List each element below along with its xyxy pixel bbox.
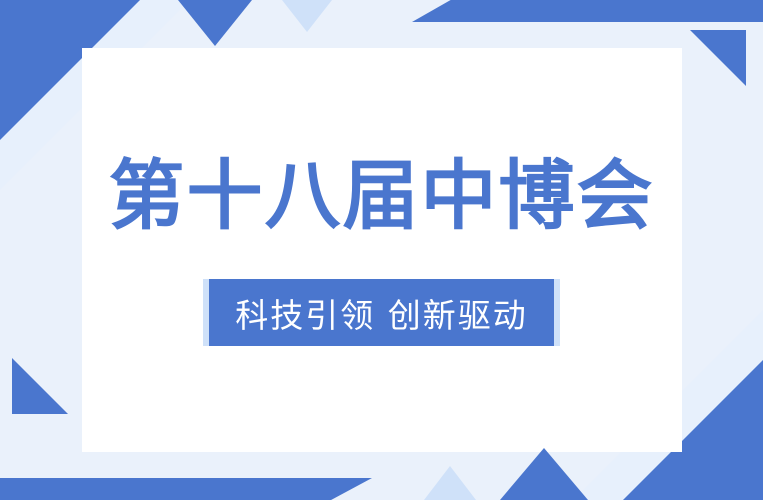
banner-content: 第十八届中博会 科技引领 创新驱动 [0, 0, 763, 500]
banner-title: 第十八届中博会 [109, 154, 655, 238]
banner-subtitle-group: 科技引领 创新驱动 [203, 279, 560, 346]
subtitle-box: 科技引领 创新驱动 [209, 279, 554, 346]
subtitle-right-edge [554, 279, 560, 346]
promo-banner: 第十八届中博会 科技引领 创新驱动 [0, 0, 763, 500]
banner-subtitle: 科技引领 创新驱动 [235, 289, 528, 337]
